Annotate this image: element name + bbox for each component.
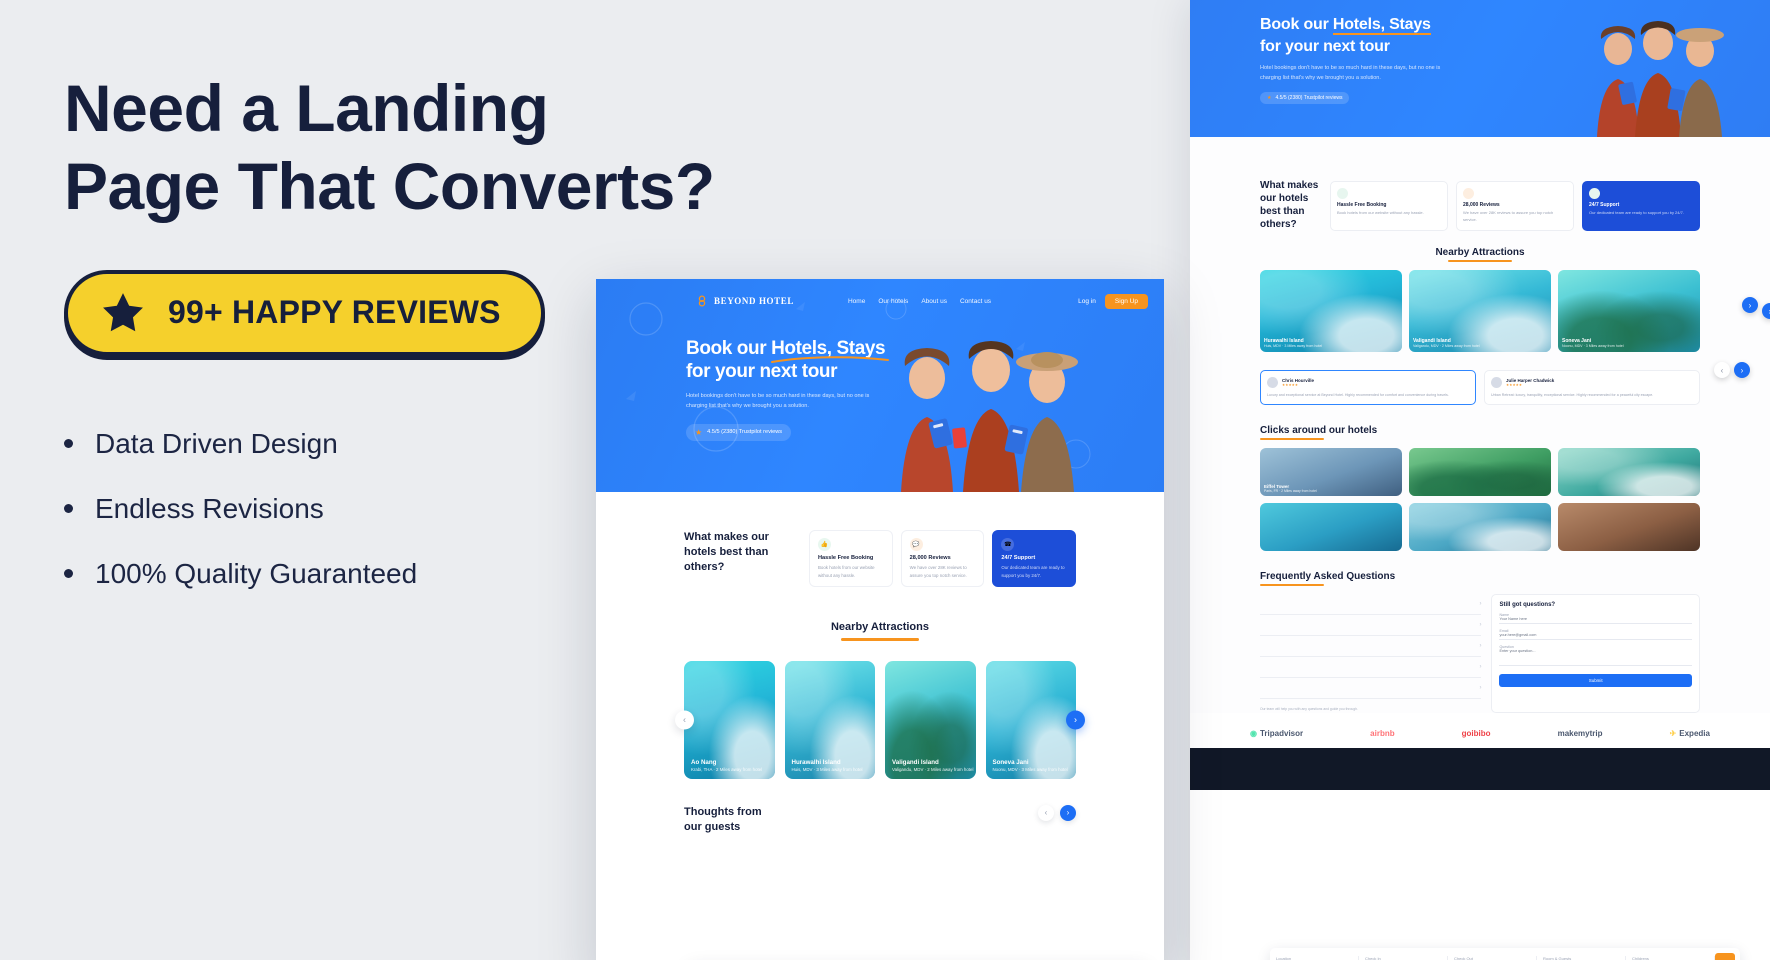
bg-partner-logos: ◉Tripadvisor airbnb goibibo makemytrip ✈…	[1190, 713, 1770, 748]
bg-faq-section: › › › › › Our team will help you with an…	[1260, 594, 1700, 712]
bg-search-field-checkout[interactable]: Check Out28 April 2022	[1448, 956, 1537, 960]
rating-stars: ★★★★★	[1282, 383, 1314, 387]
bg-gallery-item[interactable]	[1558, 503, 1700, 551]
page-title: Need a Landing Page That Converts?	[64, 70, 784, 226]
bg-clicks-heading: Clicks around our hotels	[1260, 425, 1700, 440]
bg-faq-heading: Frequently Asked Questions	[1260, 571, 1700, 586]
thumbs-up-icon: 👍	[818, 538, 831, 551]
bg-faq-form: Still got questions? Name Your Name here…	[1491, 594, 1700, 712]
chevron-right-icon: ›	[1479, 622, 1481, 628]
carousel-next-button[interactable]: ›	[1066, 710, 1085, 729]
bg-attraction-card[interactable]: Soneva JaniNoonu, MDV · 3 Miles away fro…	[1558, 270, 1700, 352]
bg-search-button[interactable]	[1715, 953, 1735, 960]
underline-decoration	[1448, 260, 1512, 262]
feature-card-support[interactable]: ☎ 24/7 Support Our dedicated team are re…	[992, 530, 1076, 587]
carousel-prev-button[interactable]: ‹	[675, 710, 694, 729]
bg-search-field-location[interactable]: LocationAllentown, New Mexico	[1270, 956, 1359, 960]
bg-field-label: Childrens	[1632, 956, 1659, 960]
support-icon: ☎	[1001, 538, 1014, 551]
feature-card-title: Hassle Free Booking	[818, 555, 884, 561]
signup-button[interactable]: Sign Up	[1105, 294, 1148, 309]
bg-search-bar[interactable]: LocationAllentown, New Mexico Check In23…	[1270, 948, 1740, 960]
feature-card-title: 24/7 Support	[1001, 555, 1067, 561]
happy-reviews-label: 99+ HAPPY REVIEWS	[168, 294, 501, 331]
attractions-heading: Nearby Attractions	[831, 621, 929, 633]
bg-hero-people-photo	[1563, 13, 1748, 137]
bg-hero-subtitle: Hotel bookings don't have to be so much …	[1260, 64, 1445, 83]
feature-card-desc: Our dedicated team are ready to support …	[1001, 564, 1067, 579]
bg-faq-list: › › › › › Our team will help you with an…	[1260, 594, 1481, 712]
underline-decoration	[1260, 438, 1324, 440]
features-heading: What makes our hotels best than others?	[684, 530, 799, 575]
attraction-name: Valigandi Island	[892, 759, 973, 766]
bg-field-label: Check In	[1365, 956, 1396, 960]
attraction-name: Hurawalhi Island	[792, 759, 863, 766]
star-icon: ★	[1267, 95, 1271, 101]
headline-line-1: Need a Landing	[64, 71, 548, 145]
hero-title-part1: Book our	[686, 338, 771, 359]
happy-reviews-badge[interactable]: 99+ HAPPY REVIEWS	[64, 270, 545, 356]
login-button[interactable]: Log in	[1078, 298, 1096, 305]
underline-decoration	[841, 638, 919, 641]
brand-name: BEYOND HOTEL	[714, 296, 794, 306]
bg-carousel-next-button[interactable]: ›	[1762, 303, 1770, 319]
guest-prev-button[interactable]: ‹	[1038, 805, 1054, 821]
attraction-meta: Noonu, MDV · 3 Miles away from hotel	[993, 767, 1068, 772]
list-item-label: Endless Revisions	[95, 493, 324, 525]
background-page-mockup: Book our Hotels, Stays for your next tou…	[1190, 0, 1770, 960]
feature-card-desc: Book hotels from our website without any…	[818, 564, 884, 579]
bg-hero-title-part1: Book our	[1260, 16, 1333, 33]
star-icon	[100, 290, 146, 336]
bg-search-field-rooms[interactable]: Room & Guests2 Rooms, 4 Guests	[1537, 956, 1626, 960]
bg-gallery-item[interactable]: Eiffel TowerParis, FR · 2 Miles away fro…	[1260, 448, 1402, 496]
hero-section: BEYOND HOTEL Home Our hotels About us Co…	[596, 279, 1164, 492]
guest-thoughts-heading: Thoughts from our guests	[684, 805, 762, 835]
bg-question-input[interactable]: Enter your question...	[1499, 649, 1692, 666]
bg-hero-title-line2: for your next tour	[1260, 38, 1390, 55]
attraction-card[interactable]: Valigandi IslandValigandu, MDV · 2 Miles…	[885, 661, 976, 779]
nav-links: Home Our hotels About us Contact us	[848, 298, 991, 305]
bg-features-heading: What makes our hotels best than others?	[1260, 179, 1322, 231]
feature-cards: 👍 Hassle Free Booking Book hotels from o…	[809, 530, 1076, 587]
bg-faq-item[interactable]: ›	[1260, 594, 1481, 615]
chevron-right-icon: ›	[1479, 685, 1481, 691]
bg-email-input[interactable]: your.here@gmail.com	[1499, 633, 1692, 640]
bg-attractions-carousel: Hurawalhi IslandHuis, MDV · 3 Miles away…	[1260, 270, 1700, 352]
feature-card-reviews[interactable]: 💬 28,000 Reviews We have over 28K review…	[901, 530, 985, 587]
bg-attraction-card[interactable]: Hurawalhi IslandHuis, MDV · 3 Miles away…	[1260, 270, 1402, 352]
attraction-meta: Huis, MDV · 3 Miles away from hotel	[792, 767, 863, 772]
bg-hero-section: Book our Hotels, Stays for your next tou…	[1190, 0, 1770, 137]
guest-next-button[interactable]: ›	[1060, 805, 1076, 821]
bg-feature-card[interactable]: 28,000 Reviews We have over 28K reviews …	[1456, 181, 1574, 231]
partner-logo-goibibo: goibibo	[1462, 729, 1491, 738]
bg-faq-item[interactable]: ›	[1260, 678, 1481, 699]
attraction-name: Soneva Jani	[993, 759, 1068, 766]
page-body: What makes our hotels best than others? …	[596, 492, 1164, 835]
chevron-right-icon: ›	[1067, 808, 1070, 817]
bullet-icon	[64, 504, 73, 513]
attraction-meta: Krabi, THA · 2 Miles away from hotel	[691, 767, 762, 772]
bg-footer	[1190, 748, 1770, 790]
attractions-carousel: Ao NangKrabi, THA · 2 Miles away from ho…	[684, 661, 1076, 779]
chevron-right-icon: ›	[1479, 601, 1481, 607]
photo-texture	[1558, 448, 1700, 496]
chevron-right-icon: ›	[1074, 715, 1077, 725]
hero-title-line2: for your next tour	[686, 361, 837, 382]
star-icon: ★	[695, 428, 702, 437]
avatar	[1267, 377, 1278, 388]
bg-page-body: What makes our hotels best than others? …	[1190, 137, 1770, 713]
bg-gallery-item[interactable]	[1260, 503, 1402, 551]
bg-testimonial-card[interactable]: Julie Harper Chadwick ★★★★★ Urban Retrea…	[1484, 370, 1700, 405]
bullet-icon	[64, 439, 73, 448]
reviews-icon	[1463, 188, 1474, 199]
bg-faq-item[interactable]: ›	[1260, 636, 1481, 657]
attractions-heading-wrap: Nearby Attractions	[684, 617, 1076, 641]
orange-swoosh-decoration	[771, 356, 889, 363]
nav-link-contact-us[interactable]: Contact us	[960, 298, 991, 305]
hero-rating-badge: ★ 4.5/5 (2380) Trustpilot reviews	[686, 424, 791, 441]
bg-search-field-children[interactable]: Childrens1 Childrens	[1626, 956, 1715, 960]
bg-hero-rating-text: 4.5/5 (2380) Trustpilot reviews	[1275, 95, 1342, 101]
beyond-hotel-logo-icon	[696, 295, 708, 307]
main-landing-page-mockup: BEYOND HOTEL Home Our hotels About us Co…	[596, 279, 1164, 960]
bg-testimonial-prev-button[interactable]: ‹	[1714, 362, 1730, 378]
feature-card-desc: We have over 28K reviews to assure you t…	[910, 564, 976, 579]
bg-submit-button[interactable]: Submit	[1499, 674, 1692, 687]
avatar	[1491, 377, 1502, 388]
bg-gallery-item[interactable]	[1409, 503, 1551, 551]
bg-testimonial-next-button[interactable]: ›	[1734, 362, 1750, 378]
rating-stars: ★★★★★	[1506, 383, 1554, 387]
bg-field-label: Check Out	[1454, 956, 1485, 960]
bg-side-next-button[interactable]: ›	[1742, 297, 1758, 313]
feature-card-hassle-free[interactable]: 👍 Hassle Free Booking Book hotels from o…	[809, 530, 893, 587]
bg-field-label: Location	[1276, 956, 1331, 960]
attraction-card[interactable]: Hurawalhi IslandHuis, MDV · 3 Miles away…	[785, 661, 876, 779]
bg-attraction-card[interactable]: Valigandi IslandValigandu, MDV · 2 Miles…	[1409, 270, 1551, 352]
bg-hero-rating: ★ 4.5/5 (2380) Trustpilot reviews	[1260, 92, 1349, 104]
page-root: Book our Hotels, Stays for your next tou…	[0, 0, 1770, 960]
chevron-left-icon: ‹	[1045, 808, 1048, 817]
hero-people-photo	[879, 332, 1104, 492]
bg-gallery-item[interactable]	[1558, 448, 1700, 496]
hero-title-highlight: Hotels, Stays	[771, 338, 885, 359]
bg-search-field-checkin[interactable]: Check In23 April 2022	[1359, 956, 1448, 960]
attraction-card[interactable]: Ao NangKrabi, THA · 2 Miles away from ho…	[684, 661, 775, 779]
attraction-name: Ao Nang	[691, 759, 762, 766]
feature-card-title: 28,000 Reviews	[910, 555, 976, 561]
partner-logo-expedia: ✈Expedia	[1670, 729, 1710, 738]
partner-logo-tripadvisor: ◉Tripadvisor	[1250, 729, 1303, 738]
bg-faq-note: Our team will help you with any question…	[1260, 706, 1481, 712]
bg-gallery-item[interactable]	[1409, 448, 1551, 496]
guest-carousel-nav: ‹ ›	[1038, 805, 1076, 821]
nav-link-our-hotels[interactable]: Our hotels	[878, 298, 908, 305]
bg-field-label: Room & Guests	[1543, 956, 1588, 960]
bg-testimonial-card[interactable]: Chris Hourville ★★★★★ Luxury and excepti…	[1260, 370, 1476, 405]
chevron-right-icon: ›	[1479, 643, 1481, 649]
bg-feature-cards: Hassle Free Booking Book hotels from our…	[1330, 181, 1700, 231]
photo-texture	[1409, 448, 1551, 496]
nav-actions: Log in Sign Up	[1078, 294, 1164, 309]
list-item-label: Data Driven Design	[95, 428, 338, 460]
attraction-meta: Valigandu, MDV · 2 Miles away from hotel	[892, 767, 973, 772]
features-section: What makes our hotels best than others? …	[684, 530, 1076, 587]
bg-faq-item[interactable]: ›	[1260, 657, 1481, 678]
support-icon	[1589, 188, 1600, 199]
bullet-icon	[64, 569, 73, 578]
reviews-icon: 💬	[910, 538, 923, 551]
bg-feature-card-support[interactable]: 24/7 Support Our dedicated team are read…	[1582, 181, 1700, 231]
nav-link-home[interactable]: Home	[848, 298, 865, 305]
bg-testimonials: Chris Hourville ★★★★★ Luxury and excepti…	[1260, 370, 1700, 405]
list-item-label: 100% Quality Guaranteed	[95, 558, 417, 590]
brand-logo[interactable]: BEYOND HOTEL	[696, 295, 794, 307]
bg-faq-item[interactable]: ›	[1260, 615, 1481, 636]
photo-texture	[1409, 503, 1551, 551]
underline-decoration	[1260, 584, 1324, 586]
headline-line-2: Page That Converts?	[64, 148, 784, 226]
bg-name-input[interactable]: Your Name here	[1499, 617, 1692, 624]
site-navbar: BEYOND HOTEL Home Our hotels About us Co…	[696, 287, 1164, 315]
hero-subtitle: Hotel bookings don't have to be so much …	[686, 392, 886, 412]
bg-attractions-heading: Nearby Attractions	[1260, 247, 1700, 262]
partner-logo-makemytrip: makemytrip	[1558, 729, 1603, 738]
partner-logo-airbnb: airbnb	[1370, 729, 1394, 738]
guest-thoughts-section: Thoughts from our guests ‹ ›	[684, 805, 1076, 835]
nav-link-about-us[interactable]: About us	[921, 298, 947, 305]
hero-rating-text: 4.5/5 (2380) Trustpilot reviews	[707, 429, 782, 435]
bg-hero-title-part2: Hotels, Stays	[1333, 16, 1431, 35]
chevron-left-icon: ‹	[683, 715, 686, 725]
attraction-card[interactable]: Soneva JaniNoonu, MDV · 3 Miles away fro…	[986, 661, 1077, 779]
bg-feature-card[interactable]: Hassle Free Booking Book hotels from our…	[1330, 181, 1448, 231]
bg-gallery-grid: Eiffel TowerParis, FR · 2 Miles away fro…	[1260, 448, 1700, 551]
chevron-right-icon: ›	[1479, 664, 1481, 670]
thumbs-up-icon	[1337, 188, 1348, 199]
